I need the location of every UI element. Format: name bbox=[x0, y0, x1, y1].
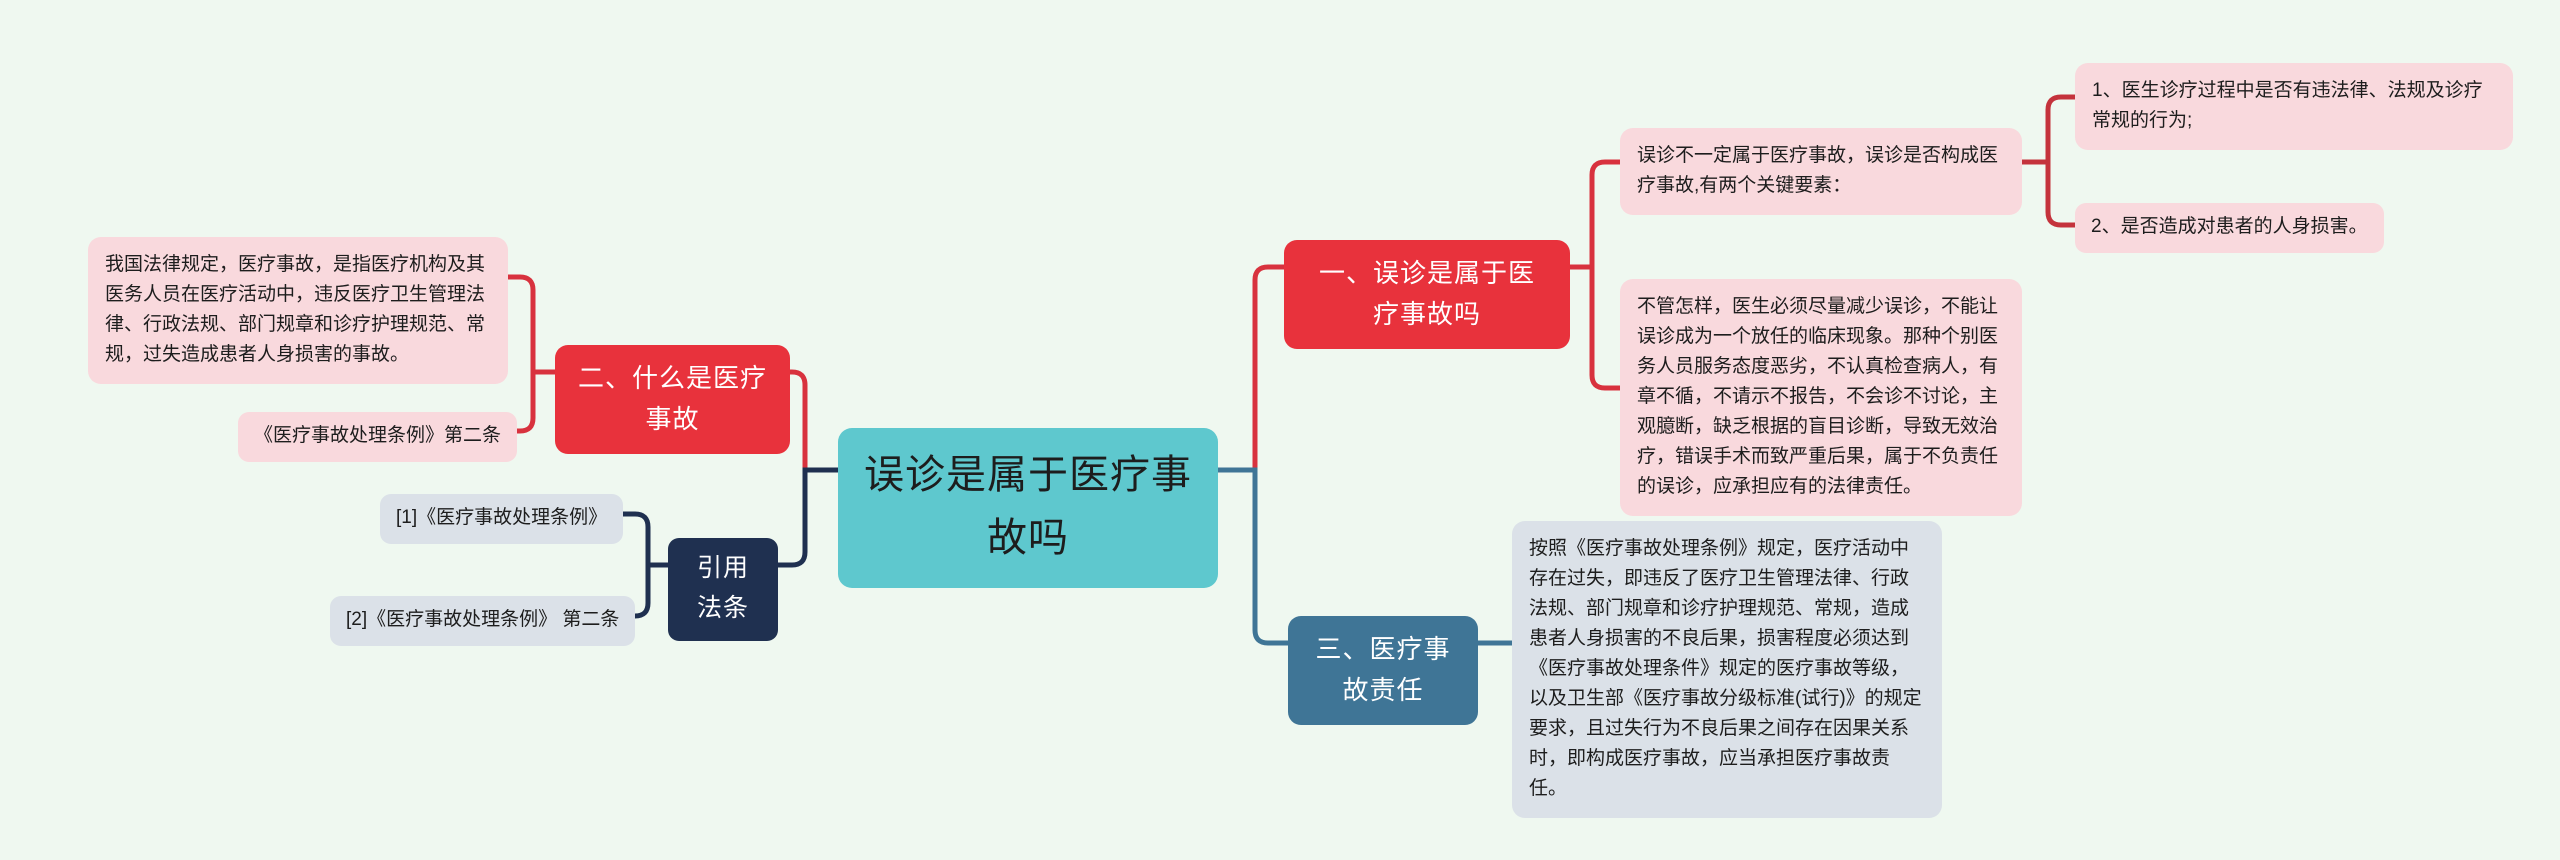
wire-root-to-branch2 bbox=[790, 372, 838, 470]
branch4-child-2[interactable]: [2]《医疗事故处理条例》 第二条 bbox=[330, 596, 635, 646]
wire-branch2-to-child1 bbox=[508, 277, 555, 372]
wire-branch1-to-child1 bbox=[1570, 162, 1620, 267]
branch-node-2[interactable]: 二、什么是医疗事故 bbox=[555, 345, 790, 454]
wire-branch1-to-child2 bbox=[1570, 267, 1620, 388]
wire-root-to-branch1 bbox=[1218, 267, 1284, 470]
wire-child1-to-grand1 bbox=[2022, 97, 2075, 162]
branch-node-3[interactable]: 三、医疗事故责任 bbox=[1288, 616, 1478, 725]
wire-child1-to-grand2 bbox=[2022, 162, 2075, 225]
branch2-child-2[interactable]: 《医疗事故处理条例》第二条 bbox=[238, 412, 517, 462]
wire-root-to-branch4 bbox=[778, 470, 838, 565]
branch1-child1-grandchild-1[interactable]: 1、医生诊疗过程中是否有违法律、法规及诊疗常规的行为; bbox=[2075, 63, 2513, 150]
branch4-child-1[interactable]: [1]《医疗事故处理条例》 bbox=[380, 494, 623, 544]
mindmap-canvas: 误诊是属于医疗事故吗 一、误诊是属于医疗事故吗 误诊不一定属于医疗事故，误诊是否… bbox=[0, 0, 2560, 860]
root-node[interactable]: 误诊是属于医疗事故吗 bbox=[838, 428, 1218, 588]
branch-node-4[interactable]: 引用法条 bbox=[668, 538, 778, 641]
branch1-child-2[interactable]: 不管怎样，医生必须尽量减少误诊，不能让误诊成为一个放任的临床现象。那种个别医务人… bbox=[1620, 279, 2022, 516]
wire-branch4-to-child1 bbox=[622, 514, 668, 565]
branch2-child-1[interactable]: 我国法律规定，医疗事故，是指医疗机构及其医务人员在医疗活动中，违反医疗卫生管理法… bbox=[88, 237, 508, 384]
wire-root-to-branch3 bbox=[1218, 470, 1288, 643]
branch1-child1-grandchild-2[interactable]: 2、是否造成对患者的人身损害。 bbox=[2075, 203, 2384, 253]
branch1-child-1[interactable]: 误诊不一定属于医疗事故，误诊是否构成医疗事故,有两个关键要素： bbox=[1620, 128, 2022, 215]
branch3-child-1[interactable]: 按照《医疗事故处理条例》规定，医疗活动中存在过失，即违反了医疗卫生管理法律、行政… bbox=[1512, 521, 1942, 818]
branch-node-1[interactable]: 一、误诊是属于医疗事故吗 bbox=[1284, 240, 1570, 349]
